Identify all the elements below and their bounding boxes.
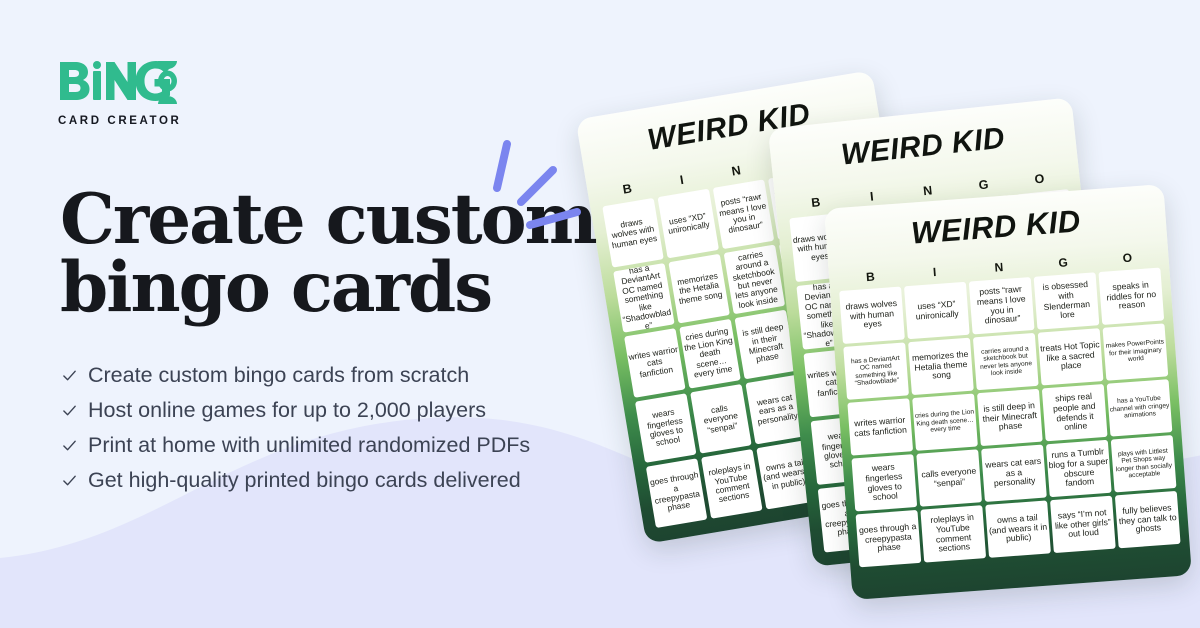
bingo-cell[interactable]: is still deep in their Minecraft phase xyxy=(977,389,1043,446)
feature-label: Get high-quality printed bingo cards del… xyxy=(88,470,521,492)
bingo-cell[interactable]: fully believes they can talk to ghosts xyxy=(1044,460,1103,529)
bingo-cell[interactable]: uses “XD” unironically xyxy=(846,207,905,276)
bingo-cell[interactable]: draws wolves with human eyes xyxy=(789,213,848,282)
bingo-cell[interactable]: carries around a sketchbook but never le… xyxy=(973,333,1039,390)
bingo-column-headers: B I N G O xyxy=(775,168,1080,214)
bingo-cell[interactable]: roleplays in YouTube comment sections xyxy=(920,505,986,562)
bingo-cell[interactable]: goes through a creepypasta phase xyxy=(818,483,877,552)
bingo-cell[interactable]: says “I’m not like other girls” out loud xyxy=(812,431,874,501)
bingo-cell[interactable]: roleplays in YouTube comment sections xyxy=(701,449,763,519)
bingo-cell[interactable]: cries during the Lion King death scene… … xyxy=(912,393,978,450)
bingo-header-o: O xyxy=(1095,249,1160,268)
bingo-cell[interactable]: is still deep in their Minecraft phase xyxy=(735,310,797,380)
bingo-cell[interactable]: wears cat ears as a personality xyxy=(745,375,807,445)
bingo-column-headers: B I N G O xyxy=(829,248,1169,287)
sparkle-flourish-icon xyxy=(475,132,595,237)
list-item: Print at home with unlimited randomized … xyxy=(62,428,530,463)
bingo-header-g: G xyxy=(762,150,819,173)
bingo-cell[interactable]: runs a Tumblr blog for a super obscure f… xyxy=(981,398,1040,467)
bingo-cell[interactable]: writes warrior cats fanfiction xyxy=(804,348,863,417)
bingo-cell[interactable]: writes warrior cats fanfiction xyxy=(624,328,686,398)
bingo-cell[interactable]: speaks in riddles for no reason xyxy=(1098,268,1164,325)
bingo-header-o: O xyxy=(1011,169,1068,189)
bingo-cell[interactable]: has a YouTube channel with cringey anima… xyxy=(1030,324,1089,393)
bingo-grid: draws wolves with human eyesuses “XD” un… xyxy=(589,153,942,542)
bingo-cell[interactable]: owns a tail (and wears it in public) xyxy=(756,440,818,510)
bingo-cell[interactable]: wears cat ears as a personality xyxy=(981,445,1047,502)
bingo-cell[interactable]: is still deep in their Minecraft phase xyxy=(917,336,976,405)
bingo-header-g: G xyxy=(1030,253,1095,272)
bingo-header-i: I xyxy=(653,169,710,192)
bingo-cell[interactable]: uses “XD” unironically xyxy=(904,282,970,339)
bingo-cell[interactable]: has a YouTube channel with cringey anima… xyxy=(1107,379,1173,436)
bingo-cell[interactable]: says “I’m not like other girls” out loud xyxy=(1050,496,1116,553)
bingo-cell[interactable]: owns a tail (and wears it in public) xyxy=(985,500,1051,557)
bingo-cell[interactable]: is obsessed with Slenderman lore xyxy=(959,195,1018,264)
bingo-cell[interactable]: speaks in riddles for no reason xyxy=(1016,189,1075,258)
bingo-cell[interactable]: is obsessed with Slenderman lore xyxy=(768,170,830,240)
bingo-cell[interactable]: ships real people and defends it online xyxy=(974,330,1033,399)
list-item: Create custom bingo cards from scratch xyxy=(62,358,530,393)
bingo-cell[interactable]: has a DeviantArt OC named something like… xyxy=(613,263,675,333)
bingo-cell[interactable]: treats Hot Topic like a sacred place xyxy=(779,235,841,305)
brand-logo[interactable]: CARD CREATOR xyxy=(58,58,181,127)
bingo-cell[interactable]: fully believes they can talk to ghosts xyxy=(1115,491,1181,548)
bingo-cell[interactable]: wears fingerless gloves to school xyxy=(851,454,917,511)
bingo-cell[interactable]: goes through a creepypasta phase xyxy=(646,458,708,528)
bingo-cell[interactable]: writes warrior cats fanfiction xyxy=(847,398,913,455)
bingo-cell[interactable]: plays with Littlest Pet Shops way longer… xyxy=(1037,392,1096,461)
bingo-cell[interactable]: wears fingerless gloves to school xyxy=(811,416,870,485)
feature-label: Print at home with unlimited randomized … xyxy=(88,435,530,457)
bingo-cell[interactable]: carries around a sketchbook but never le… xyxy=(910,269,969,338)
bingo-header-b: B xyxy=(838,267,903,286)
bingo-cell[interactable]: cries during the Lion King death scene… … xyxy=(679,319,741,389)
bingo-header-b: B xyxy=(787,193,844,213)
bingo-cell[interactable]: has a DeviantArt OC named something like… xyxy=(796,280,855,349)
feature-label: Create custom bingo cards from scratch xyxy=(88,365,469,387)
bingo-card-title: WEIRD KID xyxy=(578,86,879,169)
bingo-header-n: N xyxy=(708,159,765,182)
bingo-header-n: N xyxy=(899,181,956,201)
bingo-cell[interactable]: ships real people and defends it online xyxy=(790,300,852,370)
brand-tagline: CARD CREATOR xyxy=(58,115,181,127)
bingo-cell[interactable]: posts “rawr means I love you in dinosaur… xyxy=(713,179,775,249)
bingo-cell[interactable]: has a DeviantArt OC named something like… xyxy=(843,342,909,399)
bingo-cell[interactable]: speaks in riddles for no reason xyxy=(823,161,885,231)
bingo-header-o: O xyxy=(817,141,874,164)
bingo-cell[interactable]: says “I’m not like other girls” out loud xyxy=(988,465,1047,534)
bingo-header-n: N xyxy=(966,258,1031,277)
check-icon xyxy=(62,473,77,488)
list-item: Get high-quality printed bingo cards del… xyxy=(62,463,530,498)
bingo-cell[interactable]: cries during the Lion King death scene… … xyxy=(860,342,919,411)
bingo-wordmark-icon xyxy=(58,58,180,108)
bingo-header-g: G xyxy=(955,175,1012,195)
bingo-card-back: WEIRD KID B I N G O draws wolves with hu… xyxy=(576,70,943,544)
bingo-cell[interactable]: plays with Littlest Pet Shops way longer… xyxy=(1111,435,1177,492)
bingo-grid: draws wolves with human eyesuses “XD” un… xyxy=(777,182,1117,566)
bingo-cell[interactable]: has a YouTube channel with cringey anima… xyxy=(845,291,907,361)
bingo-cell[interactable]: wears cat ears as a personality xyxy=(924,404,983,473)
bingo-header-i: I xyxy=(902,263,967,282)
bingo-cell[interactable]: posts “rawr means I love you in dinosaur… xyxy=(903,201,962,270)
bingo-grid: draws wolves with human eyesuses “XD” un… xyxy=(830,262,1190,577)
bingo-cell[interactable]: memorizes the Hetalia theme song xyxy=(908,338,974,395)
bingo-cell[interactable]: makes PowerPoints for their imaginary wo… xyxy=(834,226,896,296)
bingo-cell[interactable]: wears fingerless gloves to school xyxy=(635,393,697,463)
bingo-cell[interactable]: fully believes they can talk to ghosts xyxy=(867,421,929,491)
bingo-cell[interactable]: calls everyone “senpai” xyxy=(690,384,752,454)
bingo-cell[interactable]: owns a tail (and wears it in public) xyxy=(931,471,990,540)
bingo-cell[interactable]: runs a Tumblr blog for a super obscure f… xyxy=(801,365,863,435)
bingo-cell[interactable]: is obsessed with Slenderman lore xyxy=(1034,272,1100,329)
list-item: Host online games for up to 2,000 player… xyxy=(62,393,530,428)
bingo-card-middle: WEIRD KID B I N G O draws wolves with hu… xyxy=(768,97,1117,566)
bingo-cell[interactable]: ships real people and defends it online xyxy=(1042,384,1108,441)
bingo-cell[interactable]: posts “rawr means I love you in dinosaur… xyxy=(969,277,1035,334)
headline-line-2: bingo cards xyxy=(60,254,620,322)
bingo-cell[interactable]: plays with Littlest Pet Shops way longer… xyxy=(856,356,918,426)
bingo-cell[interactable]: makes PowerPoints for their imaginary wo… xyxy=(1023,257,1082,326)
bingo-cell[interactable]: runs a Tumblr blog for a super obscure f… xyxy=(1046,440,1112,497)
bingo-cell[interactable]: memorizes the Hetalia theme song xyxy=(853,275,912,344)
bingo-cell[interactable]: memorizes the Hetalia theme song xyxy=(668,254,730,324)
bingo-cell[interactable]: roleplays in YouTube comment sections xyxy=(874,477,933,546)
bingo-cell[interactable]: uses “XD” unironically xyxy=(657,189,719,259)
bingo-header-i: I xyxy=(843,187,900,207)
feature-list: Create custom bingo cards from scratch H… xyxy=(62,358,530,498)
bingo-column-headers: B I N G O xyxy=(587,139,885,202)
bingo-card-title: WEIRD KID xyxy=(770,114,1077,180)
check-icon xyxy=(62,403,77,418)
bingo-cell[interactable]: goes through a creepypasta phase xyxy=(856,510,922,567)
bingo-card-title: WEIRD KID xyxy=(825,197,1167,258)
bingo-cell[interactable]: draws wolves with human eyes xyxy=(839,287,905,344)
bingo-cell[interactable]: makes PowerPoints for their imaginary wo… xyxy=(1103,323,1169,380)
bingo-cell[interactable]: treats Hot Topic like a sacred place xyxy=(1038,328,1104,385)
bingo-cell[interactable]: calls everyone “senpai” xyxy=(867,410,926,479)
check-icon xyxy=(62,368,77,383)
bingo-cell[interactable]: treats Hot Topic like a sacred place xyxy=(966,263,1025,332)
bingo-card-front: WEIRD KID B I N G O draws wolves with hu… xyxy=(824,184,1192,600)
bingo-cell[interactable]: calls everyone “senpai” xyxy=(916,449,982,506)
feature-label: Host online games for up to 2,000 player… xyxy=(88,400,486,422)
check-icon xyxy=(62,438,77,453)
bingo-cell[interactable]: carries around a sketchbook but never le… xyxy=(724,245,786,315)
